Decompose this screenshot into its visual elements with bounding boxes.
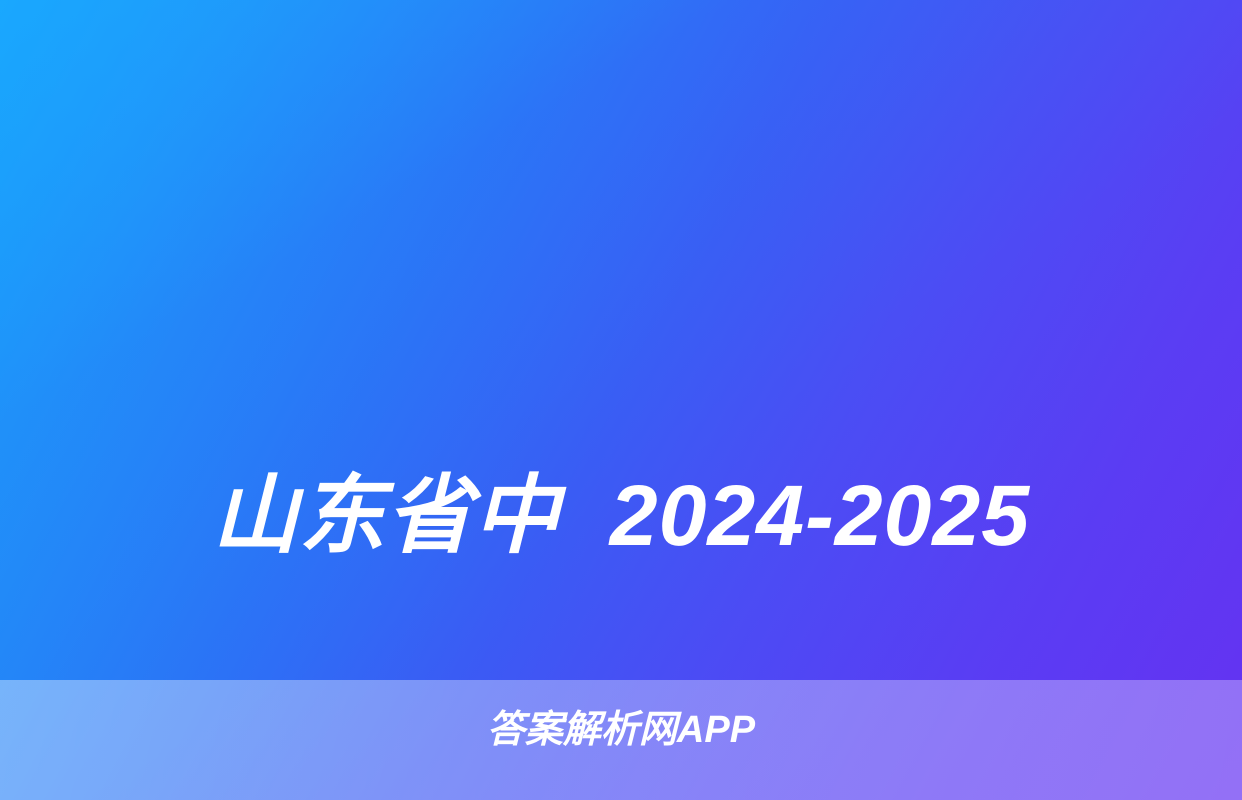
title-line-1: 山东省中 2024-2025 (0, 450, 1242, 582)
footer-watermark: 答案解析网APP (0, 706, 1242, 754)
poster-canvas: 山东省中 2024-2025 学年高三上学期10月检测 英语试题 答案解析网AP… (0, 0, 1242, 800)
